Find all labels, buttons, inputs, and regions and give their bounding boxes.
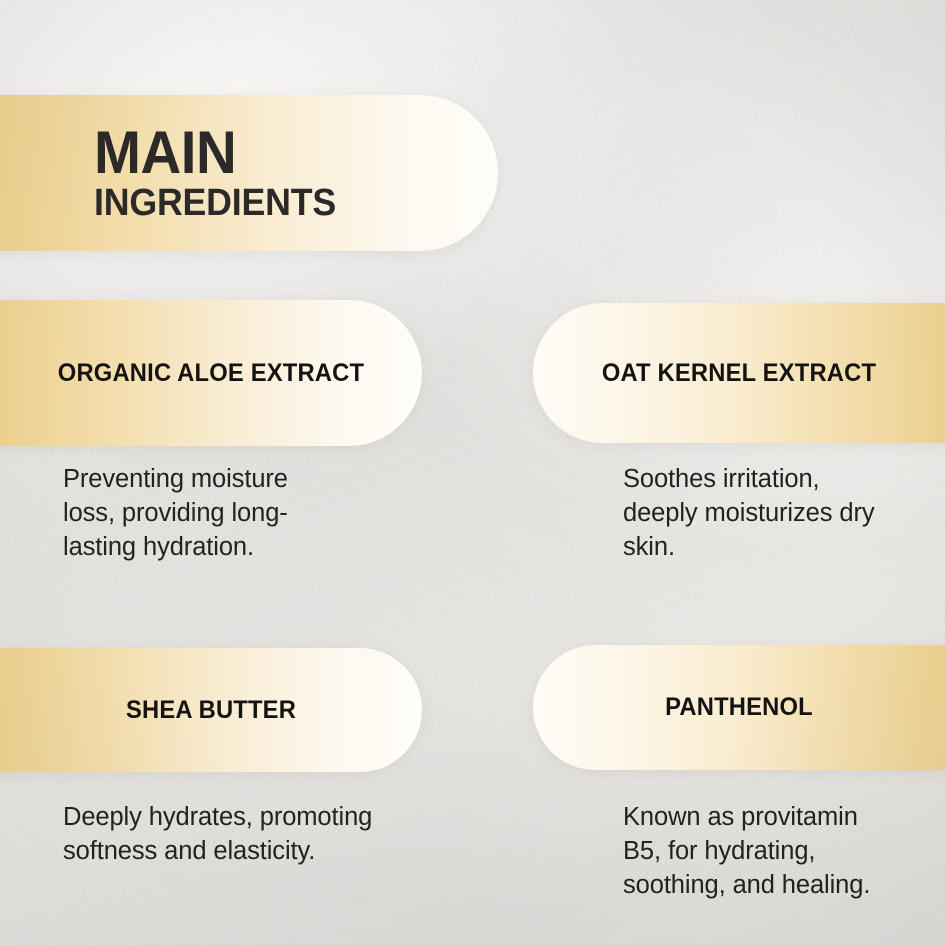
ingredient-description-2: Soothes irritation, deeply moisturizes d… bbox=[623, 462, 943, 564]
ingredient-title-pill-4: PANTHENOL bbox=[533, 645, 945, 770]
ingredient-title-3: SHEA BUTTER bbox=[21, 694, 401, 727]
ingredient-description-1: Preventing moisture loss, providing long… bbox=[63, 462, 393, 564]
header-banner: MAIN INGREDIENTS bbox=[0, 95, 498, 251]
ingredient-description-4: Known as provitamin B5, for hydrating, s… bbox=[623, 800, 945, 902]
ingredient-title-1: ORGANIC ALOE EXTRACT bbox=[21, 357, 401, 390]
ingredient-description-3: Deeply hydrates, promoting softness and … bbox=[63, 800, 423, 868]
ingredient-title-pill-3: SHEA BUTTER bbox=[0, 648, 422, 772]
ingredient-title-pill-2: OAT KERNEL EXTRACT bbox=[533, 303, 945, 443]
title-line-main: MAIN bbox=[94, 125, 336, 180]
ingredient-title-4: PANTHENOL bbox=[549, 691, 929, 724]
ingredient-title-pill-1: ORGANIC ALOE EXTRACT bbox=[0, 300, 422, 446]
page-title: MAIN INGREDIENTS bbox=[94, 125, 352, 221]
title-line-sub: INGREDIENTS bbox=[94, 186, 336, 221]
ingredient-title-2: OAT KERNEL EXTRACT bbox=[549, 357, 929, 390]
ingredients-infographic: MAIN INGREDIENTS ORGANIC ALOE EXTRACT Pr… bbox=[0, 0, 945, 945]
